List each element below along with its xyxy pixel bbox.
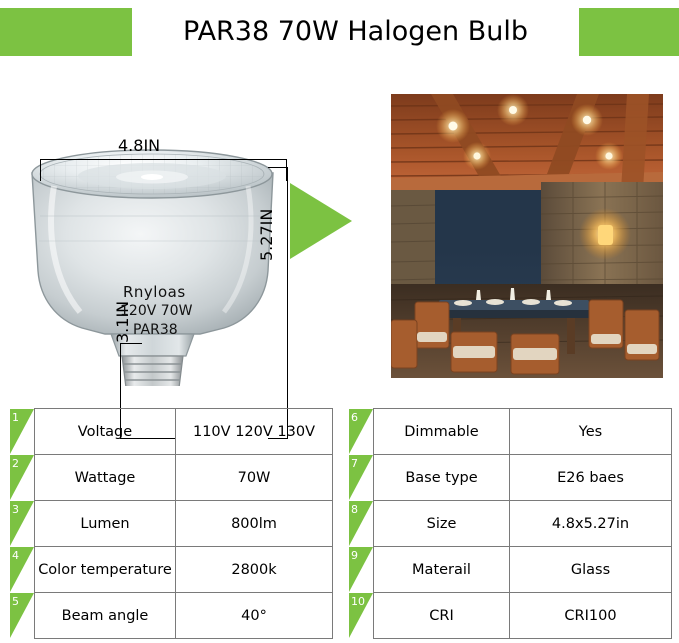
header-accent-bar-left [0, 8, 132, 56]
table-row: 1 Voltage 110V 120V 130V [10, 409, 333, 455]
spec-value: 800lm [176, 501, 333, 547]
table-row: 2 Wattage 70W [10, 455, 333, 501]
spec-value: CRI100 [510, 593, 672, 639]
bulb-brand-text: Rnyloas [123, 283, 186, 301]
spec-value: 4.8x5.27in [510, 501, 672, 547]
spec-label: Voltage [35, 409, 176, 455]
row-index-cell: 5 [10, 593, 35, 639]
spec-label: Wattage [35, 455, 176, 501]
table-row: 8 Size 4.8x5.27in [349, 501, 672, 547]
dimension-height-label: 5.27IN [257, 209, 276, 261]
row-index-cell: 9 [349, 547, 374, 593]
spec-label: Base type [374, 455, 510, 501]
right-arrow-icon [290, 175, 370, 267]
row-index-cell: 8 [349, 501, 374, 547]
page-header: PAR38 70W Halogen Bulb [0, 8, 679, 56]
spec-label: Lumen [35, 501, 176, 547]
patio-photo-svg [391, 94, 663, 378]
row-index-cell: 10 [349, 593, 374, 639]
row-index: 5 [12, 596, 19, 608]
dimension-tick-top [268, 167, 288, 168]
row-index: 8 [351, 504, 358, 516]
dimension-tick-base-top [120, 343, 142, 344]
table-row: 3 Lumen 800lm [10, 501, 333, 547]
spec-value: 110V 120V 130V [176, 409, 333, 455]
row-index-cell: 2 [10, 455, 35, 501]
table-row: 9 Materail Glass [349, 547, 672, 593]
spec-label: CRI [374, 593, 510, 639]
row-index: 2 [12, 458, 19, 470]
row-index: 3 [12, 504, 19, 516]
spec-label: Size [374, 501, 510, 547]
spec-value: 2800k [176, 547, 333, 593]
dimension-line-width [40, 159, 287, 160]
table-row: 10 CRI CRI100 [349, 593, 672, 639]
table-row: 5 Beam angle 40° [10, 593, 333, 639]
row-index-cell: 6 [349, 409, 374, 455]
dimension-tick-left [40, 159, 41, 181]
dimension-width-label: 4.8IN [118, 136, 160, 155]
row-index: 9 [351, 550, 358, 562]
spec-tables: 1 Voltage 110V 120V 130V 2 Wattage 70W 3… [10, 408, 669, 636]
page-title: PAR38 70W Halogen Bulb [132, 8, 579, 56]
row-index: 7 [351, 458, 358, 470]
dimension-line-height [287, 167, 288, 439]
spec-value: Glass [510, 547, 672, 593]
row-index-cell: 3 [10, 501, 35, 547]
row-index: 1 [12, 412, 19, 424]
spec-label: Color temperature [35, 547, 176, 593]
spec-table-right: 6 Dimmable Yes 7 Base type E26 baes 8 Si… [349, 408, 672, 639]
row-index: 10 [351, 596, 365, 608]
spec-value: Yes [510, 409, 672, 455]
spec-label: Materail [374, 547, 510, 593]
spec-label: Dimmable [374, 409, 510, 455]
row-index: 4 [12, 550, 19, 562]
table-row: 4 Color temperature 2800k [10, 547, 333, 593]
table-row: 7 Base type E26 baes [349, 455, 672, 501]
row-index-cell: 7 [349, 455, 374, 501]
spec-label: Beam angle [35, 593, 176, 639]
row-index-cell: 1 [10, 409, 35, 455]
spec-value: 70W [176, 455, 333, 501]
spec-value: E26 baes [510, 455, 672, 501]
spec-table-left: 1 Voltage 110V 120V 130V 2 Wattage 70W 3… [10, 408, 333, 639]
bulb-spec-line1: 120V 70W [120, 303, 192, 319]
spec-value: 40° [176, 593, 333, 639]
patio-photo [391, 94, 663, 378]
bulb-spec-line2: PAR38 [133, 322, 178, 338]
row-index-cell: 4 [10, 547, 35, 593]
header-accent-bar-right [579, 8, 679, 56]
table-row: 6 Dimmable Yes [349, 409, 672, 455]
row-index: 6 [351, 412, 358, 424]
